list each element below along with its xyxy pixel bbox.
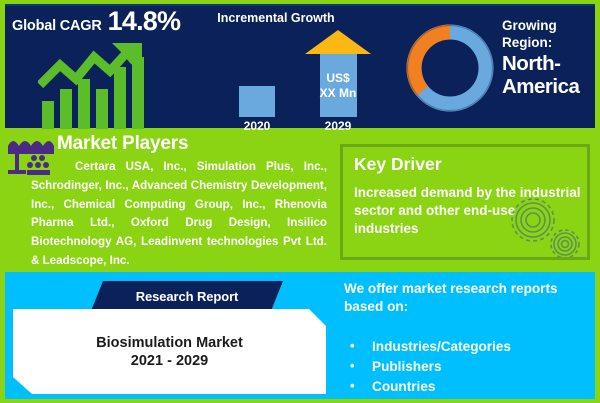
cagr-value: 14.8% (108, 8, 181, 35)
gears-icon (503, 194, 583, 260)
list-item: Publishers (344, 357, 594, 377)
global-cagr-section: Global CAGR 14.8% (8, 8, 208, 126)
growing-region-value-line2: America (502, 75, 596, 99)
frame-edge-top (0, 0, 600, 4)
incremental-growth-section: Incremental Growth 2020 US$ XX Mn 2029 (212, 10, 387, 128)
infographic-root: Global CAGR 14.8% Incremental Growth (0, 0, 600, 403)
up-arrow-icon (305, 30, 371, 54)
arrow-bar-2029: US$ XX Mn 2029 (302, 30, 374, 133)
donut-chart-icon (400, 18, 500, 123)
growing-region-label: Growing Region: North- America (502, 18, 596, 99)
growing-region-label-line1: Growing (502, 18, 596, 35)
offers-heading: We offer market research reports based o… (344, 280, 580, 317)
bar-2029-value-currency: US$ (326, 71, 349, 86)
market-players-section: Market Players Certara USA, Inc., Simula… (5, 130, 335, 270)
frame-edge-bottom (0, 399, 600, 403)
key-driver-title: Key Driver (354, 154, 442, 175)
growing-region-label-line2: Region: (502, 35, 596, 52)
incremental-growth-chart: 2020 US$ XX Mn 2029 (212, 10, 387, 128)
offers-section: We offer market research reports based o… (344, 280, 594, 395)
frame-edge-right (595, 0, 600, 403)
bar-2020: 2020 (232, 86, 282, 133)
cagr-label: Global CAGR (12, 18, 102, 34)
report-period: 2021 - 2029 (131, 353, 208, 369)
research-report-card: Biosimulation Market 2021 - 2029 (13, 309, 326, 394)
report-title: Biosimulation Market (96, 335, 243, 351)
frame-edge-left (0, 0, 5, 403)
list-item: Industries/Categories (344, 337, 594, 357)
market-players-list: Certara USA, Inc., Simulation Plus, Inc.… (31, 158, 327, 271)
research-report-ribbon-label: Research Report (136, 289, 239, 304)
list-item: Countries (344, 377, 594, 397)
growing-region-value-line1: North- (502, 52, 596, 76)
offers-list: Industries/Categories Publishers Countri… (344, 337, 594, 398)
key-driver-box: Key Driver Increased demand by the indus… (340, 144, 590, 260)
bar-2020-fill (239, 86, 275, 117)
key-driver-section: Key Driver Increased demand by the indus… (340, 144, 590, 260)
research-report-section: Research Report Biosimulation Market 202… (5, 276, 335, 398)
market-players-title: Market Players (57, 133, 188, 155)
bar-2029-value-amount: XX Mn (320, 86, 357, 101)
cagr-headline: Global CAGR 14.8% (8, 8, 208, 35)
growing-region-section: Growing Region: North- America (392, 6, 596, 128)
research-report-ribbon: Research Report (91, 281, 283, 311)
bar-2029-fill: US$ XX Mn (320, 54, 357, 117)
growth-bar-chart-icon (38, 41, 150, 134)
